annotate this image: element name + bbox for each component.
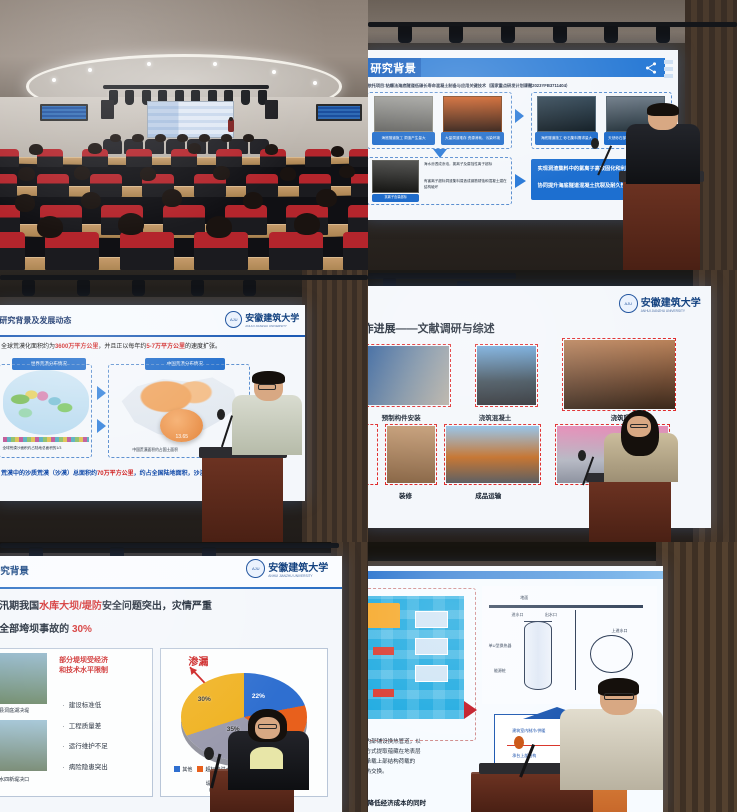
- slide-title: 研究背景及发展动态: [0, 315, 71, 326]
- slide-title: 作进展——文献调研与综述: [368, 320, 495, 336]
- presenter-body: [626, 124, 700, 183]
- panel-heading: 部分堤坝受经济 和技术水平限制: [59, 656, 150, 677]
- stage-light-icon: [125, 90, 134, 105]
- photo-interior-finishing: [387, 426, 436, 483]
- downlight-icon: [52, 78, 56, 82]
- university-name-cn: 安徽建筑大学: [245, 311, 299, 324]
- university-name-en: ANHUI JIANZHU UNIVERSITY: [245, 324, 299, 328]
- bullet-item: ·建设标准低: [63, 699, 102, 709]
- label-indoor: 建筑室内制冷/供暖: [512, 728, 545, 734]
- university-name-cn: 安徽建筑大学: [268, 559, 328, 574]
- microphone-icon: [514, 736, 524, 749]
- photo-concrete-pour: [477, 346, 536, 405]
- left-text-block: 桩体内部铺设换热管道，以 化的方式提取蕴藏在地表层 ，在承载上部结构荷载的 进行…: [368, 738, 457, 778]
- photo-caption: 郎溪水四新堤决口: [0, 776, 29, 783]
- bullet-text: 海水渗透成渗泡，氯离子及腐蚀性离子超标: [424, 162, 509, 167]
- label-u-exchanger: 单U型换热器: [489, 643, 512, 649]
- body-seg-red: 3600万平方公里: [55, 344, 98, 350]
- left-text-line: 化的方式提取蕴藏在地表层: [368, 748, 457, 758]
- microphone-icon: [591, 138, 599, 149]
- university-name-en: ANHUI JIANZHU UNIVERSITY: [641, 309, 701, 313]
- body-seg: ，汛期我国: [0, 601, 39, 612]
- slide-body-line: 全球荒漠化面积约为3600万平方公里，并且正以每年约5-7万平方公里的速度扩张。: [1, 341, 221, 350]
- photo-dam-breach-2: [0, 720, 47, 771]
- side-monitor-right: [316, 104, 362, 122]
- microphone-icon: [578, 450, 586, 461]
- label-top-inlet: 上进水口: [612, 628, 628, 634]
- podium: [202, 455, 283, 542]
- stage-light-icon: [241, 90, 250, 105]
- photo-precast-install: [368, 346, 449, 405]
- presenter-body: [560, 709, 663, 790]
- seat-row: [0, 174, 368, 197]
- photo-caption: 成品运输: [475, 490, 501, 500]
- body-seg: ，并且正以每年约: [98, 344, 146, 350]
- speaker-left: [101, 100, 114, 119]
- footer-seg: 荒漠中的沙质荒漠（沙漠）总面积约: [1, 471, 97, 477]
- photo-caption: 海底隧道施工 砂石集料需求量大: [535, 132, 598, 145]
- downlight-icon: [313, 81, 317, 85]
- footer-seg-red: 70万平方公里: [97, 471, 134, 477]
- glasses-icon: [604, 693, 634, 699]
- bullet-text: 有害离子超标洞渣集料易造成钢筋锈蚀和混凝土潜在结构破坏: [424, 179, 509, 190]
- left-map-note: 全球荒漠沙面积约占陆地总面积的1/3: [3, 446, 62, 451]
- seat-row: [0, 149, 368, 167]
- slide-subtitle: 依托项目:钻爆法海底隧道低碳长寿命混凝土制备与应用关键技术（国家重点研发计划课题…: [368, 83, 570, 89]
- university-name-en: ANHUI JIANZHU UNIVERSITY: [268, 574, 328, 578]
- body-seg-red: 5-7万平方公里: [146, 344, 185, 350]
- unit-block: [415, 611, 448, 628]
- body-seg: 全球荒漠化面积约为: [1, 344, 55, 350]
- podium: [623, 178, 700, 270]
- glasses-icon: [258, 384, 276, 389]
- university-seal-icon: AJU: [246, 559, 265, 578]
- photo-product-transport: [446, 426, 540, 483]
- stage-presenter-head: [229, 117, 233, 122]
- pump-icon: [373, 647, 394, 654]
- bottom-text: 积，降低经济成本的同时: [368, 797, 426, 807]
- body-seg-red: 水库大坝/堤防: [39, 601, 102, 612]
- share-icon: [643, 61, 659, 75]
- map-legend-strip: [3, 437, 90, 443]
- stage-projection-screen: [147, 101, 233, 137]
- pie-label-0: 22%: [252, 693, 265, 700]
- university-seal-icon: AJU: [225, 311, 242, 328]
- right-map-note: 中国荒漠面积约占国土面积: [132, 448, 178, 453]
- label-ground: 地面: [520, 595, 528, 601]
- seat-row: [0, 232, 368, 270]
- lighting-truss: [103, 85, 269, 89]
- arrow-right-icon: [515, 174, 526, 188]
- photo-wall-pour: [564, 340, 675, 409]
- left-text-line: 进行热交换。: [368, 768, 457, 778]
- side-monitor-left: [40, 104, 88, 122]
- arrow-right-icon: [464, 701, 477, 719]
- university-seal-icon: AJU: [619, 294, 638, 313]
- aggregate-demand-photo: [537, 96, 597, 132]
- conclusion-line-2: 协同提升海底隧道混凝土抗裂及耐久性能: [538, 182, 631, 189]
- glasses-icon: [258, 724, 278, 729]
- unit-block: [415, 665, 448, 682]
- legend-label: 其他: [182, 766, 192, 773]
- left-text-line: 桩体内部铺设换热管道，以: [368, 738, 457, 748]
- building-icon: [368, 603, 400, 628]
- photo-caption: 海底隧道施工 洞渣产生量大: [372, 132, 435, 145]
- photo-dam-breach-1: [0, 653, 47, 704]
- unit-block: [415, 638, 448, 655]
- tunnel-muck-photo: [374, 96, 434, 132]
- slide-body-line-1: ，汛期我国水库大坝/堤防安全问题突出，灾情严重: [0, 597, 212, 612]
- downlight-icon: [88, 68, 92, 72]
- photo-caption: 氯离子含量超标: [372, 194, 419, 203]
- presenter-collar: [250, 747, 283, 769]
- presenter-hair: [647, 103, 679, 117]
- label-outlet: 出水口: [545, 612, 557, 618]
- bullet-label: 病险隐患突出: [69, 764, 108, 771]
- body-seg-red: 30%: [72, 624, 92, 635]
- bullet-item: ·运行维护不足: [63, 740, 108, 750]
- bullet-item: ·病险隐患突出: [63, 761, 108, 771]
- slide-title: 研究背景: [368, 58, 422, 77]
- photo-caption: 大量洞渣堆存 资源消耗、污染环境: [441, 132, 504, 145]
- slide-body-line-2: 占全部垮坝事故的 30%: [0, 620, 92, 635]
- pie-label-3: 30%: [198, 696, 211, 703]
- bullet-label: 建设标准低: [69, 702, 102, 709]
- slide-title: 研究背景: [0, 563, 29, 577]
- glasses-icon: [630, 424, 648, 428]
- podium: [589, 479, 670, 542]
- pump-icon: [373, 689, 394, 696]
- bullet-label: 运行维护不足: [69, 743, 108, 750]
- label-inlet: 进水口: [511, 612, 523, 618]
- bullet-item: ·工程质量差: [63, 720, 102, 730]
- arrow-right-icon: [515, 109, 524, 123]
- body-seg: 安全问题突出，灾情严重: [102, 601, 212, 612]
- world-desert-map: [3, 370, 90, 435]
- panel-research-background: 研究背景 依托项目:钻爆法海底隧道低碳长寿命混凝土制备与应用关键技术（国家重点研…: [368, 0, 737, 270]
- slide-title-bar: [368, 571, 663, 578]
- panel-dam-safety: 研究背景 AJU 安徽建筑大学 ANHUI JIANZHU UNIVERSITY…: [0, 542, 368, 812]
- muck-stockpile-photo: [443, 96, 503, 132]
- speaker-right: [265, 100, 278, 119]
- legend-item-0: 其他: [174, 766, 192, 773]
- photo-grid: 研究背景 依托项目:钻爆法海底隧道低碳长寿命混凝土制备与应用关键技术（国家重点研…: [0, 0, 737, 812]
- photo-caption: 华容县洞庭湖决堤: [0, 707, 29, 714]
- panel-literature-review: AJU 安徽建筑大学 ANHUI JIANZHU UNIVERSITY 作进展—…: [368, 270, 737, 542]
- microphone-icon: [217, 409, 225, 420]
- label-superstructure: 承台上部结构: [512, 753, 536, 759]
- panel-auditorium: [0, 0, 368, 270]
- bullet-label: 工程质量差: [69, 723, 102, 730]
- body-seg: 占全部垮坝事故的: [0, 624, 72, 635]
- label-energy-pile: 能源桩: [494, 668, 506, 674]
- panel-geothermal: 桩体内部铺设换热管道，以 化的方式提取蕴藏在地表层 ，在承载上部结构荷载的 进行…: [368, 542, 737, 812]
- photo-caption: 浇筑混凝土: [479, 412, 512, 422]
- photo-caption: 装修: [399, 490, 412, 500]
- university-name-cn: 安徽建筑大学: [641, 294, 701, 309]
- presenter-hair: [252, 371, 284, 385]
- left-text-line: ，在承载上部结构荷载的: [368, 758, 457, 768]
- panel-desertification: 研究背景及发展动态 AJU 安徽建筑大学 ANHUI JIANZHU UNIVE…: [0, 270, 368, 542]
- photo-caption: 预制构件安装: [382, 412, 421, 422]
- body-seg: 的速度扩张。: [185, 344, 221, 350]
- presenter-body: [232, 395, 302, 455]
- chloride-photo: [372, 160, 419, 192]
- conclusion-line-1: 实现洞渣集料中的氯离子高效固化和利用: [538, 165, 631, 172]
